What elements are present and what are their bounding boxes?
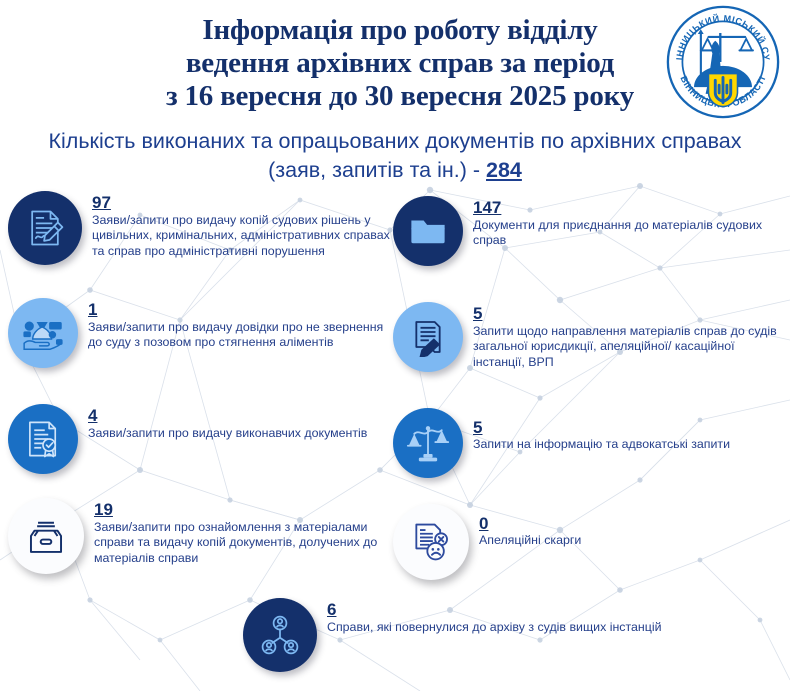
rejected-document-icon — [409, 520, 453, 564]
stat-count: 97 — [92, 193, 393, 212]
icon-circle — [8, 191, 82, 265]
stat-description: Запити на інформацію та адвокатські запи… — [473, 437, 730, 452]
stat-count: 1 — [88, 300, 393, 319]
stat-text: 97 Заяви/запити про видачу копій судових… — [82, 191, 393, 259]
stat-count: 4 — [88, 406, 367, 425]
stat-item-forward-case-materials[interactable]: 5 Запити щодо направлення матеріалів спр… — [393, 302, 788, 372]
stat-count: 5 — [473, 304, 788, 323]
stat-text: 5 Запити на інформацію та адвокатські за… — [463, 408, 730, 452]
stat-count: 6 — [327, 600, 662, 619]
infographic-page: Інформація про роботу відділу ведення ар… — [0, 0, 790, 691]
stat-item-copies-of-court-decisions[interactable]: 97 Заяви/запити про видачу копій судових… — [8, 191, 393, 265]
stat-item-alimony-certificate[interactable]: 1 Заяви/запити про видачу довідки про не… — [8, 298, 393, 368]
document-pen-icon — [23, 206, 67, 250]
archive-box-icon — [23, 514, 69, 558]
stat-count: 19 — [94, 500, 393, 519]
icon-circle — [393, 302, 463, 372]
ukraine-trident-shield — [709, 74, 738, 107]
icon-circle — [243, 598, 317, 672]
stat-count: 0 — [479, 514, 574, 533]
stat-description: Заяви/запити про видачу виконавчих докум… — [88, 426, 367, 441]
stat-item-executive-documents[interactable]: 4 Заяви/запити про видачу виконавчих док… — [8, 404, 393, 474]
hand-money-bag-icon — [19, 311, 67, 355]
stat-item-documents-to-attach[interactable]: 147 Документи для приєднання до матеріал… — [393, 196, 788, 266]
icon-circle — [8, 498, 84, 574]
certificate-seal-icon — [22, 418, 64, 460]
court-seal-emblem: ВІННИЦЬКИЙ МІСЬКИЙ СУД ВІННИЦЬКОЇ ОБЛАСТ… — [665, 4, 781, 120]
stat-description: Заяви/запити про видачу копій судових рі… — [92, 213, 393, 259]
total-count: 284 — [486, 158, 522, 182]
folder-icon — [407, 210, 449, 252]
icon-circle — [8, 404, 78, 474]
document-pencil-icon — [408, 317, 448, 357]
stat-description: Справи, які повернулися до архіву з суді… — [327, 620, 662, 635]
stat-item-appeals[interactable]: 0 Апеляційні скарги — [393, 504, 788, 580]
header: Інформація про роботу відділу ведення ар… — [0, 0, 790, 185]
scales-of-justice-icon — [406, 421, 450, 465]
stat-text: 0 Апеляційні скарги — [469, 504, 581, 548]
stat-text: 19 Заяви/запити про ознайомлення з матер… — [84, 498, 393, 566]
stat-description: Заяви/запити про видачу довідки про не з… — [88, 320, 393, 351]
icon-circle — [393, 504, 469, 580]
stat-count: 147 — [473, 198, 788, 217]
stat-item-case-file-review[interactable]: 19 Заяви/запити про ознайомлення з матер… — [8, 498, 393, 574]
stat-item-information-and-lawyer-requests[interactable]: 5 Запити на інформацію та адвокатські за… — [393, 408, 788, 478]
stat-text: 6 Справи, які повернулися до архіву з су… — [317, 598, 662, 635]
stat-description: Апеляційні скарги — [479, 533, 581, 548]
stat-description: Заяви/запити про ознайомлення з матеріал… — [94, 520, 393, 566]
subtitle: Кількість виконаних та опрацьованих доку… — [35, 127, 755, 185]
stat-text: 1 Заяви/запити про видачу довідки про не… — [78, 298, 393, 351]
title-line-2: ведення архівних справ за період — [90, 47, 710, 80]
stat-description: Запити щодо направлення матеріалів справ… — [473, 324, 788, 370]
stat-description: Документи для приєднання до матеріалів с… — [473, 218, 788, 249]
icon-circle — [393, 196, 463, 266]
stat-text: 5 Запити щодо направлення матеріалів спр… — [463, 302, 788, 370]
icon-circle — [393, 408, 463, 478]
stat-text: 147 Документи для приєднання до матеріал… — [463, 196, 788, 249]
stat-text: 4 Заяви/запити про видачу виконавчих док… — [78, 404, 367, 441]
subtitle-text: Кількість виконаних та опрацьованих доку… — [48, 129, 741, 182]
page-title: Інформація про роботу відділу ведення ар… — [80, 14, 710, 113]
title-line-1: Інформація про роботу відділу — [90, 14, 710, 47]
title-line-3: з 16 вересня до 30 вересня 2025 року — [90, 80, 710, 113]
statistics-grid: 97 Заяви/запити про видачу копій судових… — [0, 186, 790, 626]
stat-count: 5 — [473, 418, 723, 437]
network-users-icon — [258, 613, 302, 657]
stat-item-returned-from-higher-courts[interactable]: 6 Справи, які повернулися до архіву з су… — [243, 598, 663, 672]
icon-circle — [8, 298, 78, 368]
